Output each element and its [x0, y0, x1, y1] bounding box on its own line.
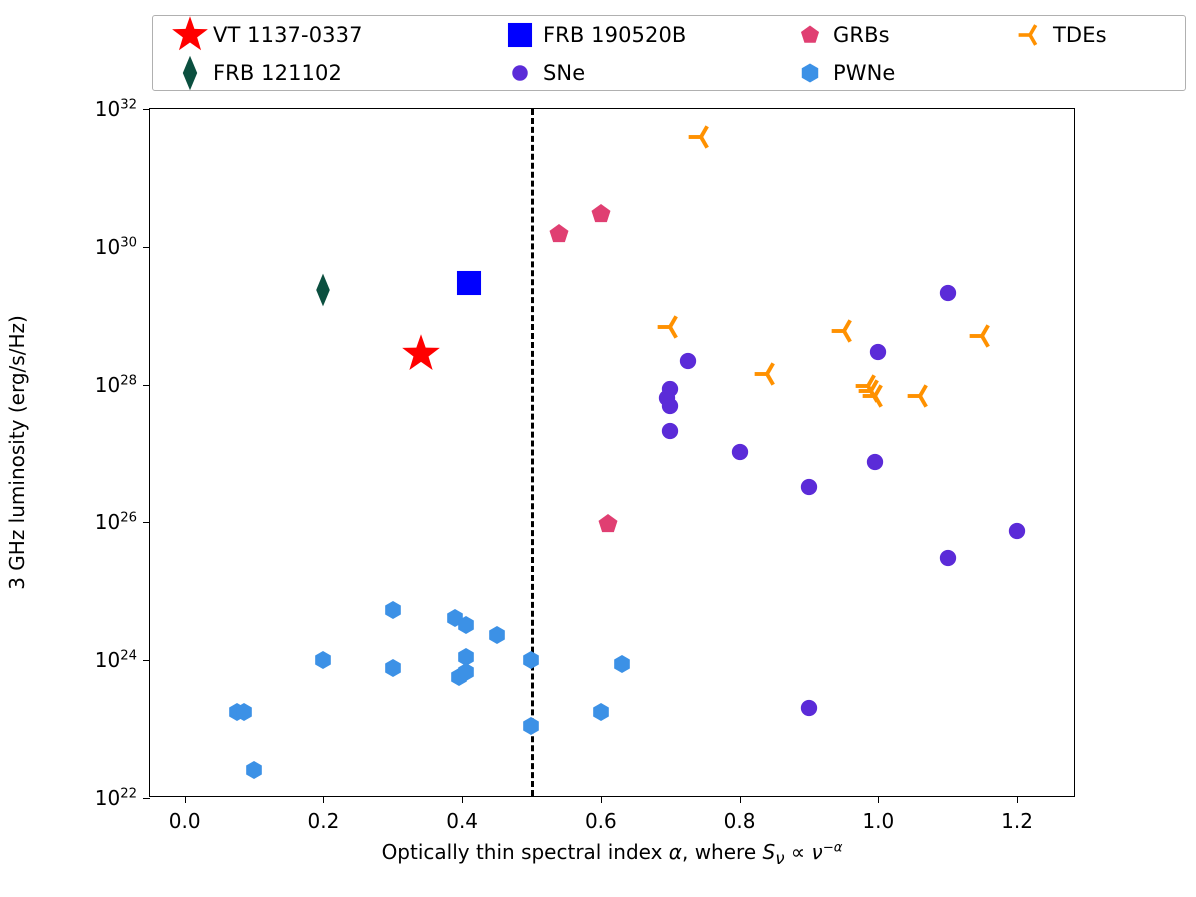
data-point-sne	[661, 397, 680, 420]
x-axis-exponent: −α	[823, 840, 843, 855]
data-point-frb-121102	[306, 273, 340, 311]
data-point-sne	[865, 452, 884, 475]
x-axis-tick-label: 0.6	[585, 809, 617, 833]
data-point-vt-1137-0337	[401, 334, 441, 378]
y-axis-tick-label: 1024	[95, 648, 137, 672]
data-point-sne	[799, 698, 818, 721]
data-point-tdes	[969, 323, 995, 353]
data-point-pwne	[487, 626, 506, 649]
y-axis-tick	[143, 247, 150, 248]
data-point-pwne	[456, 616, 475, 639]
y-axis-tick-label: 1030	[95, 235, 137, 259]
x-axis-tick	[1017, 796, 1018, 803]
legend-item-grbs[interactable]: GRBs	[773, 16, 993, 54]
star-marker-icon	[167, 16, 213, 54]
x-axis-prop-symbol: ∝	[785, 840, 812, 864]
plot-axes: 1022102410261028103010320.00.20.40.60.81…	[149, 108, 1075, 797]
y-axis-tick	[143, 522, 150, 523]
data-point-sne	[869, 342, 888, 365]
x-axis-tick-label: 0.2	[308, 809, 340, 833]
legend-label: FRB 121102	[213, 61, 342, 85]
data-point-tdes	[657, 314, 683, 344]
legend-item-sne[interactable]: SNe	[483, 54, 773, 92]
y-axis-tick-label: 1032	[95, 97, 137, 121]
y-axis-tick	[143, 660, 150, 661]
data-point-tdes	[754, 361, 780, 391]
y-axis-tick	[143, 385, 150, 386]
tri-left-marker-icon	[1007, 16, 1053, 54]
data-point-grbs	[597, 513, 618, 538]
x-axis-tick-label: 1.0	[862, 809, 894, 833]
data-point-sne	[730, 442, 749, 465]
plot-area	[150, 109, 1074, 796]
x-axis-label-text: Optically thin spectral index	[382, 840, 669, 864]
y-axis-tick-label: 1026	[95, 510, 137, 534]
legend-grid: VT 1137-0337FRB 190520BGRBsTDEsFRB 12110…	[153, 16, 1185, 90]
data-point-pwne	[234, 702, 253, 725]
legend-item-frb-121102[interactable]: FRB 121102	[153, 54, 483, 92]
legend-label: PWNe	[833, 61, 895, 85]
data-point-pwne	[591, 702, 610, 725]
data-point-frb-190520b	[455, 269, 483, 301]
y-axis-tick-label: 1022	[95, 786, 137, 810]
legend-label: GRBs	[833, 23, 890, 47]
x-axis-tick-label: 0.8	[724, 809, 756, 833]
data-point-sne	[661, 421, 680, 444]
x-axis-tick	[323, 796, 324, 803]
data-point-tdes	[907, 383, 933, 413]
x-axis-tick	[740, 796, 741, 803]
data-point-tdes	[688, 124, 714, 154]
y-axis-tick	[143, 109, 150, 110]
x-axis-nu-subscript: ν	[775, 849, 784, 868]
legend-label: FRB 190520B	[543, 23, 686, 47]
data-point-sne	[938, 549, 957, 572]
data-point-pwne	[245, 760, 264, 783]
x-axis-label: Optically thin spectral index α, where S…	[149, 840, 1075, 868]
legend-item-tdes[interactable]: TDEs	[993, 16, 1183, 54]
x-axis-tick	[462, 796, 463, 803]
pentagon-marker-icon	[787, 16, 833, 54]
data-point-pwne	[612, 654, 631, 677]
legend-item-frb-190520b[interactable]: FRB 190520B	[483, 16, 773, 54]
figure: VT 1137-0337FRB 190520BGRBsTDEsFRB 12110…	[0, 0, 1196, 897]
legend-item-pwne[interactable]: PWNe	[773, 54, 993, 92]
data-point-pwne	[522, 650, 541, 673]
x-axis-nu-symbol: ν	[812, 840, 823, 864]
data-point-sne	[1008, 521, 1027, 544]
x-axis-tick-label: 0.0	[169, 809, 201, 833]
data-point-grbs	[549, 224, 570, 249]
hexagon-marker-icon	[787, 54, 833, 92]
data-point-pwne	[383, 658, 402, 681]
data-point-sne	[938, 284, 957, 307]
x-axis-tick-label: 0.4	[446, 809, 478, 833]
legend-label: TDEs	[1053, 23, 1107, 47]
x-axis-tick	[878, 796, 879, 803]
data-point-sne	[799, 478, 818, 501]
divider-line	[531, 109, 534, 796]
data-point-pwne	[314, 650, 333, 673]
data-point-tdes	[831, 318, 857, 348]
legend: VT 1137-0337FRB 190520BGRBsTDEsFRB 12110…	[152, 15, 1186, 91]
x-axis-tick-label: 1.2	[1001, 809, 1033, 833]
y-axis-label: 3 GHz luminosity (erg/s/Hz)	[0, 108, 34, 797]
x-axis-s-symbol: S	[762, 840, 775, 864]
data-point-grbs	[590, 203, 611, 228]
legend-label: SNe	[543, 61, 585, 85]
data-point-tdes	[862, 383, 888, 413]
y-axis-tick-label: 1028	[95, 373, 137, 397]
legend-label: VT 1137-0337	[213, 23, 363, 47]
data-point-pwne	[522, 716, 541, 739]
data-point-pwne	[383, 600, 402, 623]
diamond-marker-icon	[167, 54, 213, 92]
y-axis-tick	[143, 798, 150, 799]
x-axis-tick	[601, 796, 602, 803]
data-point-sne	[678, 351, 697, 374]
legend-item-vt-1137-0337[interactable]: VT 1137-0337	[153, 16, 483, 54]
circle-marker-icon	[497, 54, 543, 92]
x-axis-label-mid: , where	[682, 840, 763, 864]
data-point-pwne	[456, 662, 475, 685]
x-axis-alpha: α	[669, 840, 682, 864]
x-axis-tick	[185, 796, 186, 803]
square-marker-icon	[497, 16, 543, 54]
